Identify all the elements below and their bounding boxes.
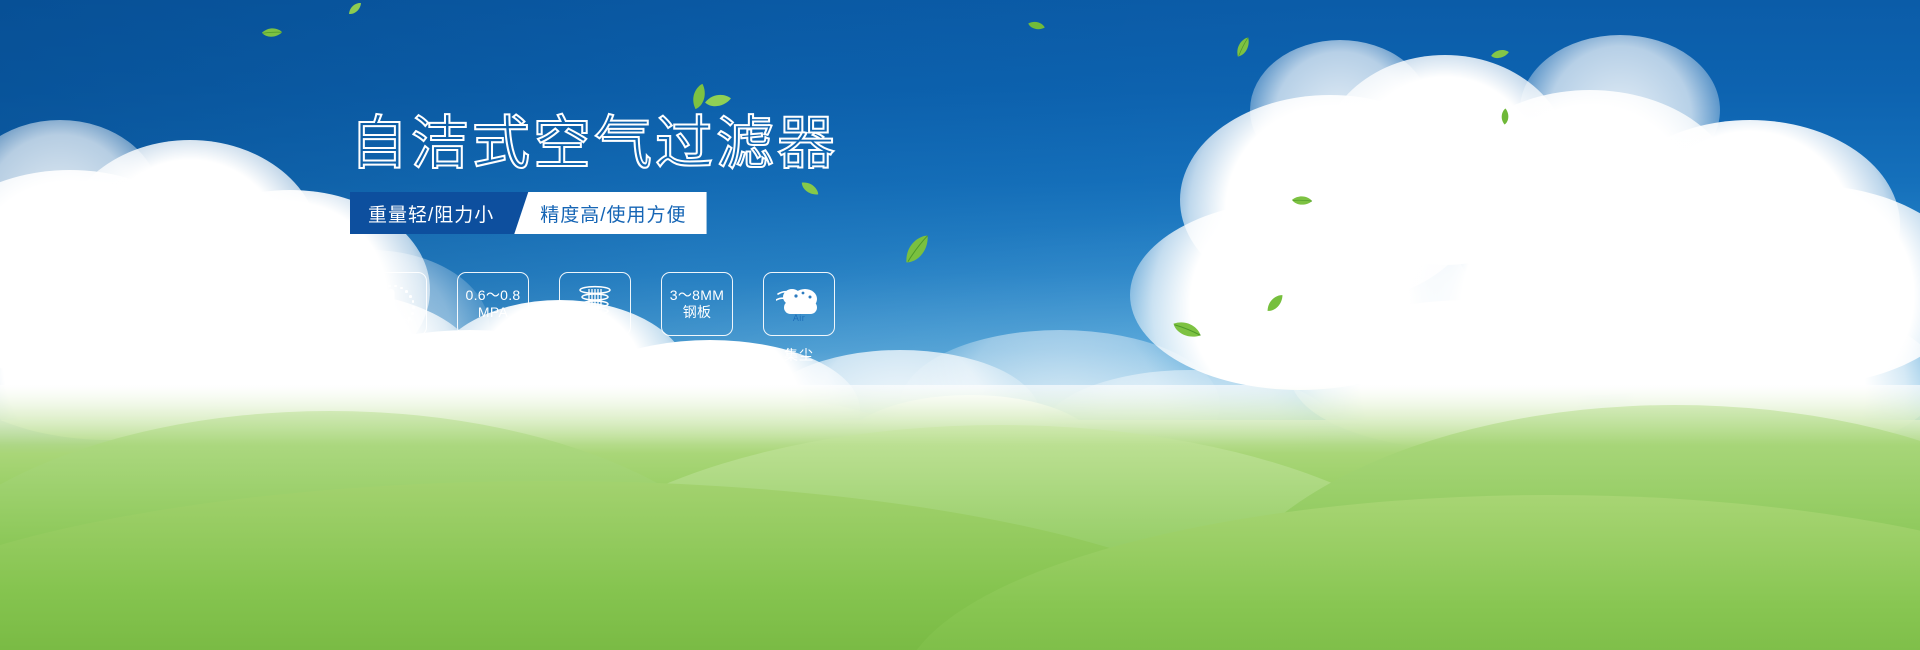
air-label: Air — [776, 313, 822, 323]
feature-label: 强力反吹 — [565, 345, 625, 365]
feature-icon-box: 0.6～0.8 MPA — [457, 272, 529, 336]
gauge-label-no: NO — [366, 304, 373, 309]
product-banner: 自洁式空气过滤器 重量轻/阻力小 精度高/使用方便 — [0, 0, 1920, 650]
steel-material: 钢板 — [683, 304, 712, 321]
gauge-label-off: OFF — [404, 318, 414, 323]
feature-icon-box: 3～8MM 钢板 — [661, 272, 733, 336]
feature-label: 控制仪 — [369, 345, 414, 365]
coil-icon — [573, 282, 617, 326]
tag-weight-resistance[interactable]: 重量轻/阻力小 — [350, 192, 528, 234]
tag-label: 重量轻/阻力小 — [368, 200, 494, 227]
feature-label: 钢结构强度 — [660, 345, 735, 365]
tag-precision-convenience[interactable]: 精度高/使用方便 — [514, 192, 706, 234]
feature-dust-collection[interactable]: Air 集尘 — [763, 272, 835, 365]
feature-strong-backblow[interactable]: 强力反吹 — [559, 272, 631, 365]
tag-row: 重量轻/阻力小 精度高/使用方便 — [350, 192, 707, 234]
air-cloud-icon: Air — [776, 284, 822, 324]
feature-two-stage-filter[interactable]: 0.6～0.8 MPA 二级过滤 — [457, 272, 529, 365]
feature-label: 集尘 — [784, 345, 814, 365]
banner-content: 自洁式空气过滤器 重量轻/阻力小 精度高/使用方便 — [0, 0, 1920, 650]
tag-label: 精度高/使用方便 — [540, 200, 686, 227]
banner-title: 自洁式空气过滤器 — [350, 112, 838, 174]
feature-label: 二级过滤 — [463, 345, 523, 365]
feature-icon-box: NO OFF — [355, 272, 427, 336]
pressure-value: 0.6～0.8 — [465, 287, 520, 304]
feature-controller[interactable]: NO OFF 控制仪 — [355, 272, 427, 365]
feature-steel-strength[interactable]: 3～8MM 钢板 钢结构强度 — [661, 272, 733, 365]
pressure-unit: MPA — [478, 304, 508, 321]
feature-row: NO OFF 控制仪 0.6～0.8 MPA 二级过滤 — [355, 272, 835, 365]
gauge-icon: NO OFF — [367, 282, 415, 326]
feature-icon-box: Air — [763, 272, 835, 336]
steel-thickness: 3～8MM — [670, 287, 724, 304]
feature-icon-box — [559, 272, 631, 336]
